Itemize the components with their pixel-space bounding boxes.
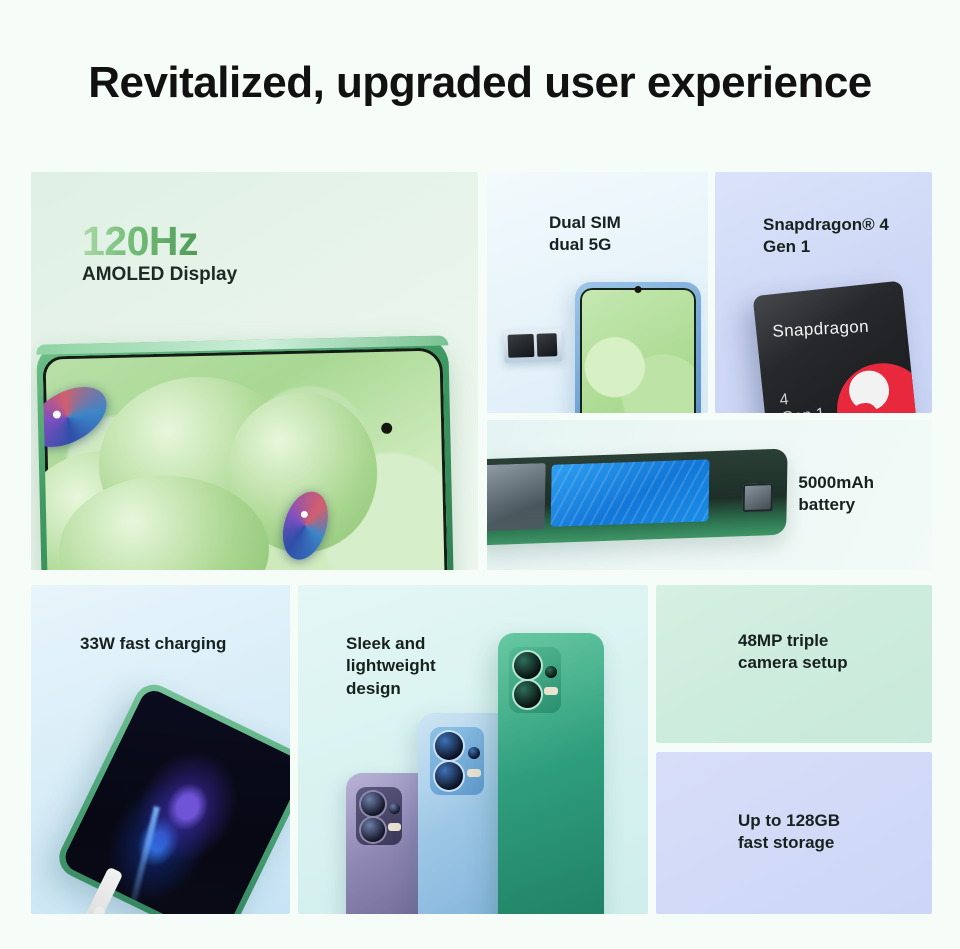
phone-charging-image — [53, 678, 290, 914]
phone-internals-image — [487, 449, 788, 546]
camera-flash-icon — [467, 769, 481, 777]
camera-lens-icon — [545, 666, 557, 678]
display-headline: 120Hz — [82, 218, 198, 265]
phone-screen — [42, 347, 447, 570]
feature-panel-design[interactable]: Sleek and lightweight design — [298, 585, 648, 914]
feature-panel-camera[interactable]: 48MP triple camera setup — [656, 585, 932, 743]
feature-panel-fast-charging[interactable]: 33W fast charging — [31, 585, 290, 914]
battery-cell-graphic — [551, 459, 710, 527]
phone-display-image — [36, 335, 454, 570]
sim-card-1 — [508, 334, 535, 358]
front-camera-punchhole — [635, 286, 642, 293]
display-subtitle: AMOLED Display — [82, 264, 237, 286]
phone-green-image — [498, 633, 604, 914]
camera-flash-icon — [544, 687, 558, 695]
fast-charging-label: 33W fast charging — [80, 633, 226, 655]
phone-screen — [61, 686, 290, 914]
snapdragon-chip-image: Snapdragon 4 Gen 1 — [753, 281, 918, 413]
snapdragon-logo-icon — [833, 359, 918, 413]
chip-brand-text: Snapdragon — [772, 317, 870, 342]
design-label: Sleek and lightweight design — [346, 633, 436, 700]
sim-tray-icon — [503, 329, 562, 363]
battery-label: 5000mAh battery — [798, 472, 874, 517]
camera-lens-icon — [514, 652, 541, 679]
feature-panel-battery[interactable]: 5000mAh battery — [487, 420, 932, 570]
chip-gen-text: 4 Gen 1 — [779, 387, 826, 413]
sim-card-2 — [537, 333, 558, 357]
camera-lens-icon — [361, 792, 385, 816]
charging-beam-graphic — [125, 806, 160, 914]
dual-sim-label: Dual SIM dual 5G — [549, 212, 621, 257]
mainboard-graphic — [487, 463, 546, 531]
camera-lens-icon — [468, 747, 480, 759]
camera-lens-icon — [435, 762, 463, 790]
camera-module-graphic — [743, 483, 773, 512]
earpiece-slot — [234, 341, 308, 347]
feature-panel-dual-sim[interactable]: Dual SIM dual 5G — [487, 172, 708, 413]
storage-label: Up to 128GB fast storage — [738, 810, 840, 855]
snapdragon-label: Snapdragon® 4 Gen 1 — [763, 214, 889, 259]
camera-lens-icon — [389, 803, 400, 814]
camera-label: 48MP triple camera setup — [738, 630, 848, 675]
camera-lens-icon — [514, 681, 541, 708]
feature-panel-display[interactable]: 120Hz AMOLED Display — [31, 172, 478, 570]
page-title: Revitalized, upgraded user experience — [0, 58, 960, 108]
camera-lens-icon — [435, 732, 463, 760]
camera-flash-icon — [388, 823, 401, 831]
phone-sim-image — [575, 282, 701, 413]
phone-screen — [580, 288, 696, 413]
feature-panel-storage[interactable]: Up to 128GB fast storage — [656, 752, 932, 914]
camera-lens-icon — [361, 818, 385, 842]
feature-panel-snapdragon[interactable]: Snapdragon® 4 Gen 1 Snapdragon 4 Gen 1 — [715, 172, 932, 413]
